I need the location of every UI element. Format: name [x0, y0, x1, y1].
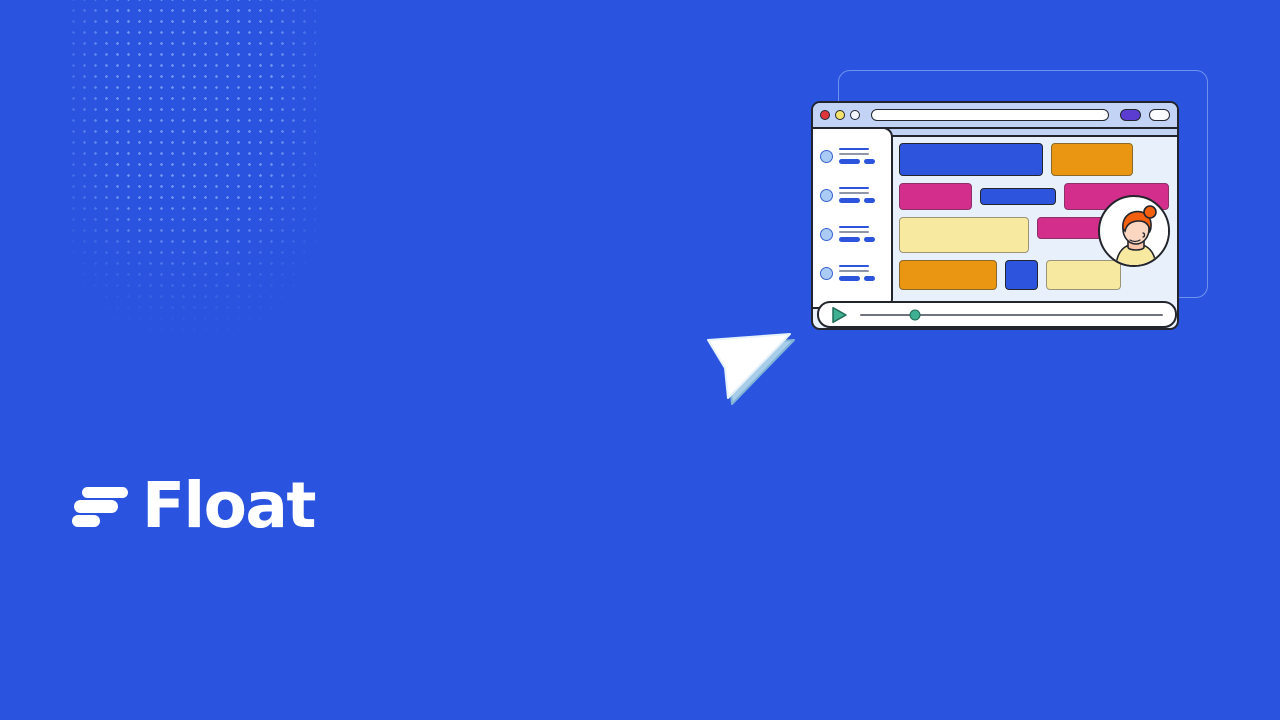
sidebar-line: [839, 187, 869, 189]
sidebar-row-lines: [839, 187, 875, 203]
sidebar-row[interactable]: [811, 219, 891, 249]
browser-window-illustration: [811, 101, 1179, 330]
logo-bar-top: [82, 487, 128, 498]
sidebar-row[interactable]: [811, 180, 891, 210]
sidebar-line: [839, 270, 869, 272]
schedule-row: [899, 143, 1169, 176]
schedule-block[interactable]: [899, 143, 1043, 176]
progress-slider[interactable]: [860, 314, 1163, 316]
media-player-bar: [817, 301, 1177, 328]
browser-titlebar: [813, 103, 1177, 129]
maximize-dot[interactable]: [850, 110, 860, 120]
schedule-block[interactable]: [899, 260, 997, 290]
arrow-cursor: [694, 312, 804, 408]
sidebar-bars: [839, 198, 875, 203]
sidebar-bar: [839, 237, 860, 242]
dot-grid-pattern: [68, 0, 316, 346]
schedule-block[interactable]: [1005, 260, 1038, 290]
toolbar-pill-purple[interactable]: [1120, 109, 1141, 121]
sidebar-row[interactable]: [811, 141, 891, 171]
person-avatar-icon: [820, 267, 833, 280]
person-avatar-icon: [820, 228, 833, 241]
minimize-dot[interactable]: [835, 110, 845, 120]
schedule-block[interactable]: [899, 183, 972, 210]
brand-logo-lockup: Float: [72, 474, 315, 537]
sidebar-bar: [839, 159, 860, 164]
sidebar-line: [839, 231, 869, 233]
progress-handle[interactable]: [909, 309, 920, 320]
sidebar-line: [839, 148, 869, 150]
browser-sidebar: [811, 127, 893, 309]
sidebar-row-lines: [839, 148, 875, 164]
url-bar[interactable]: [871, 109, 1109, 121]
sidebar-bar: [864, 198, 875, 203]
sidebar-row-lines: [839, 265, 875, 281]
sidebar-line: [839, 153, 869, 155]
play-icon[interactable]: [831, 306, 848, 324]
sidebar-bar: [839, 198, 860, 203]
sidebar-bars: [839, 276, 875, 281]
float-logo-mark-icon: [72, 482, 128, 530]
close-dot[interactable]: [820, 110, 830, 120]
sidebar-row-lines: [839, 226, 875, 242]
sidebar-bar: [839, 276, 860, 281]
sidebar-line: [839, 265, 869, 267]
person-avatar-icon: [820, 189, 833, 202]
logo-bar-bottom: [72, 515, 100, 527]
sidebar-row[interactable]: [811, 258, 891, 288]
schedule-block[interactable]: [899, 217, 1029, 253]
sidebar-bar: [864, 159, 875, 164]
sidebar-line: [839, 192, 869, 194]
person-avatar-icon: [820, 150, 833, 163]
schedule-block[interactable]: [1051, 143, 1133, 176]
toolbar-pill-white[interactable]: [1149, 109, 1170, 121]
sidebar-bars: [839, 159, 875, 164]
sidebar-line: [839, 226, 869, 228]
logo-bar-middle: [74, 500, 118, 513]
schedule-block[interactable]: [1046, 260, 1121, 290]
browser-body: [813, 137, 1177, 330]
sidebar-bar: [864, 276, 875, 281]
brand-wordmark: Float: [142, 474, 315, 537]
user-avatar: [1098, 195, 1170, 267]
schedule-block[interactable]: [980, 188, 1056, 205]
sidebar-bar: [864, 237, 875, 242]
sidebar-bars: [839, 237, 875, 242]
